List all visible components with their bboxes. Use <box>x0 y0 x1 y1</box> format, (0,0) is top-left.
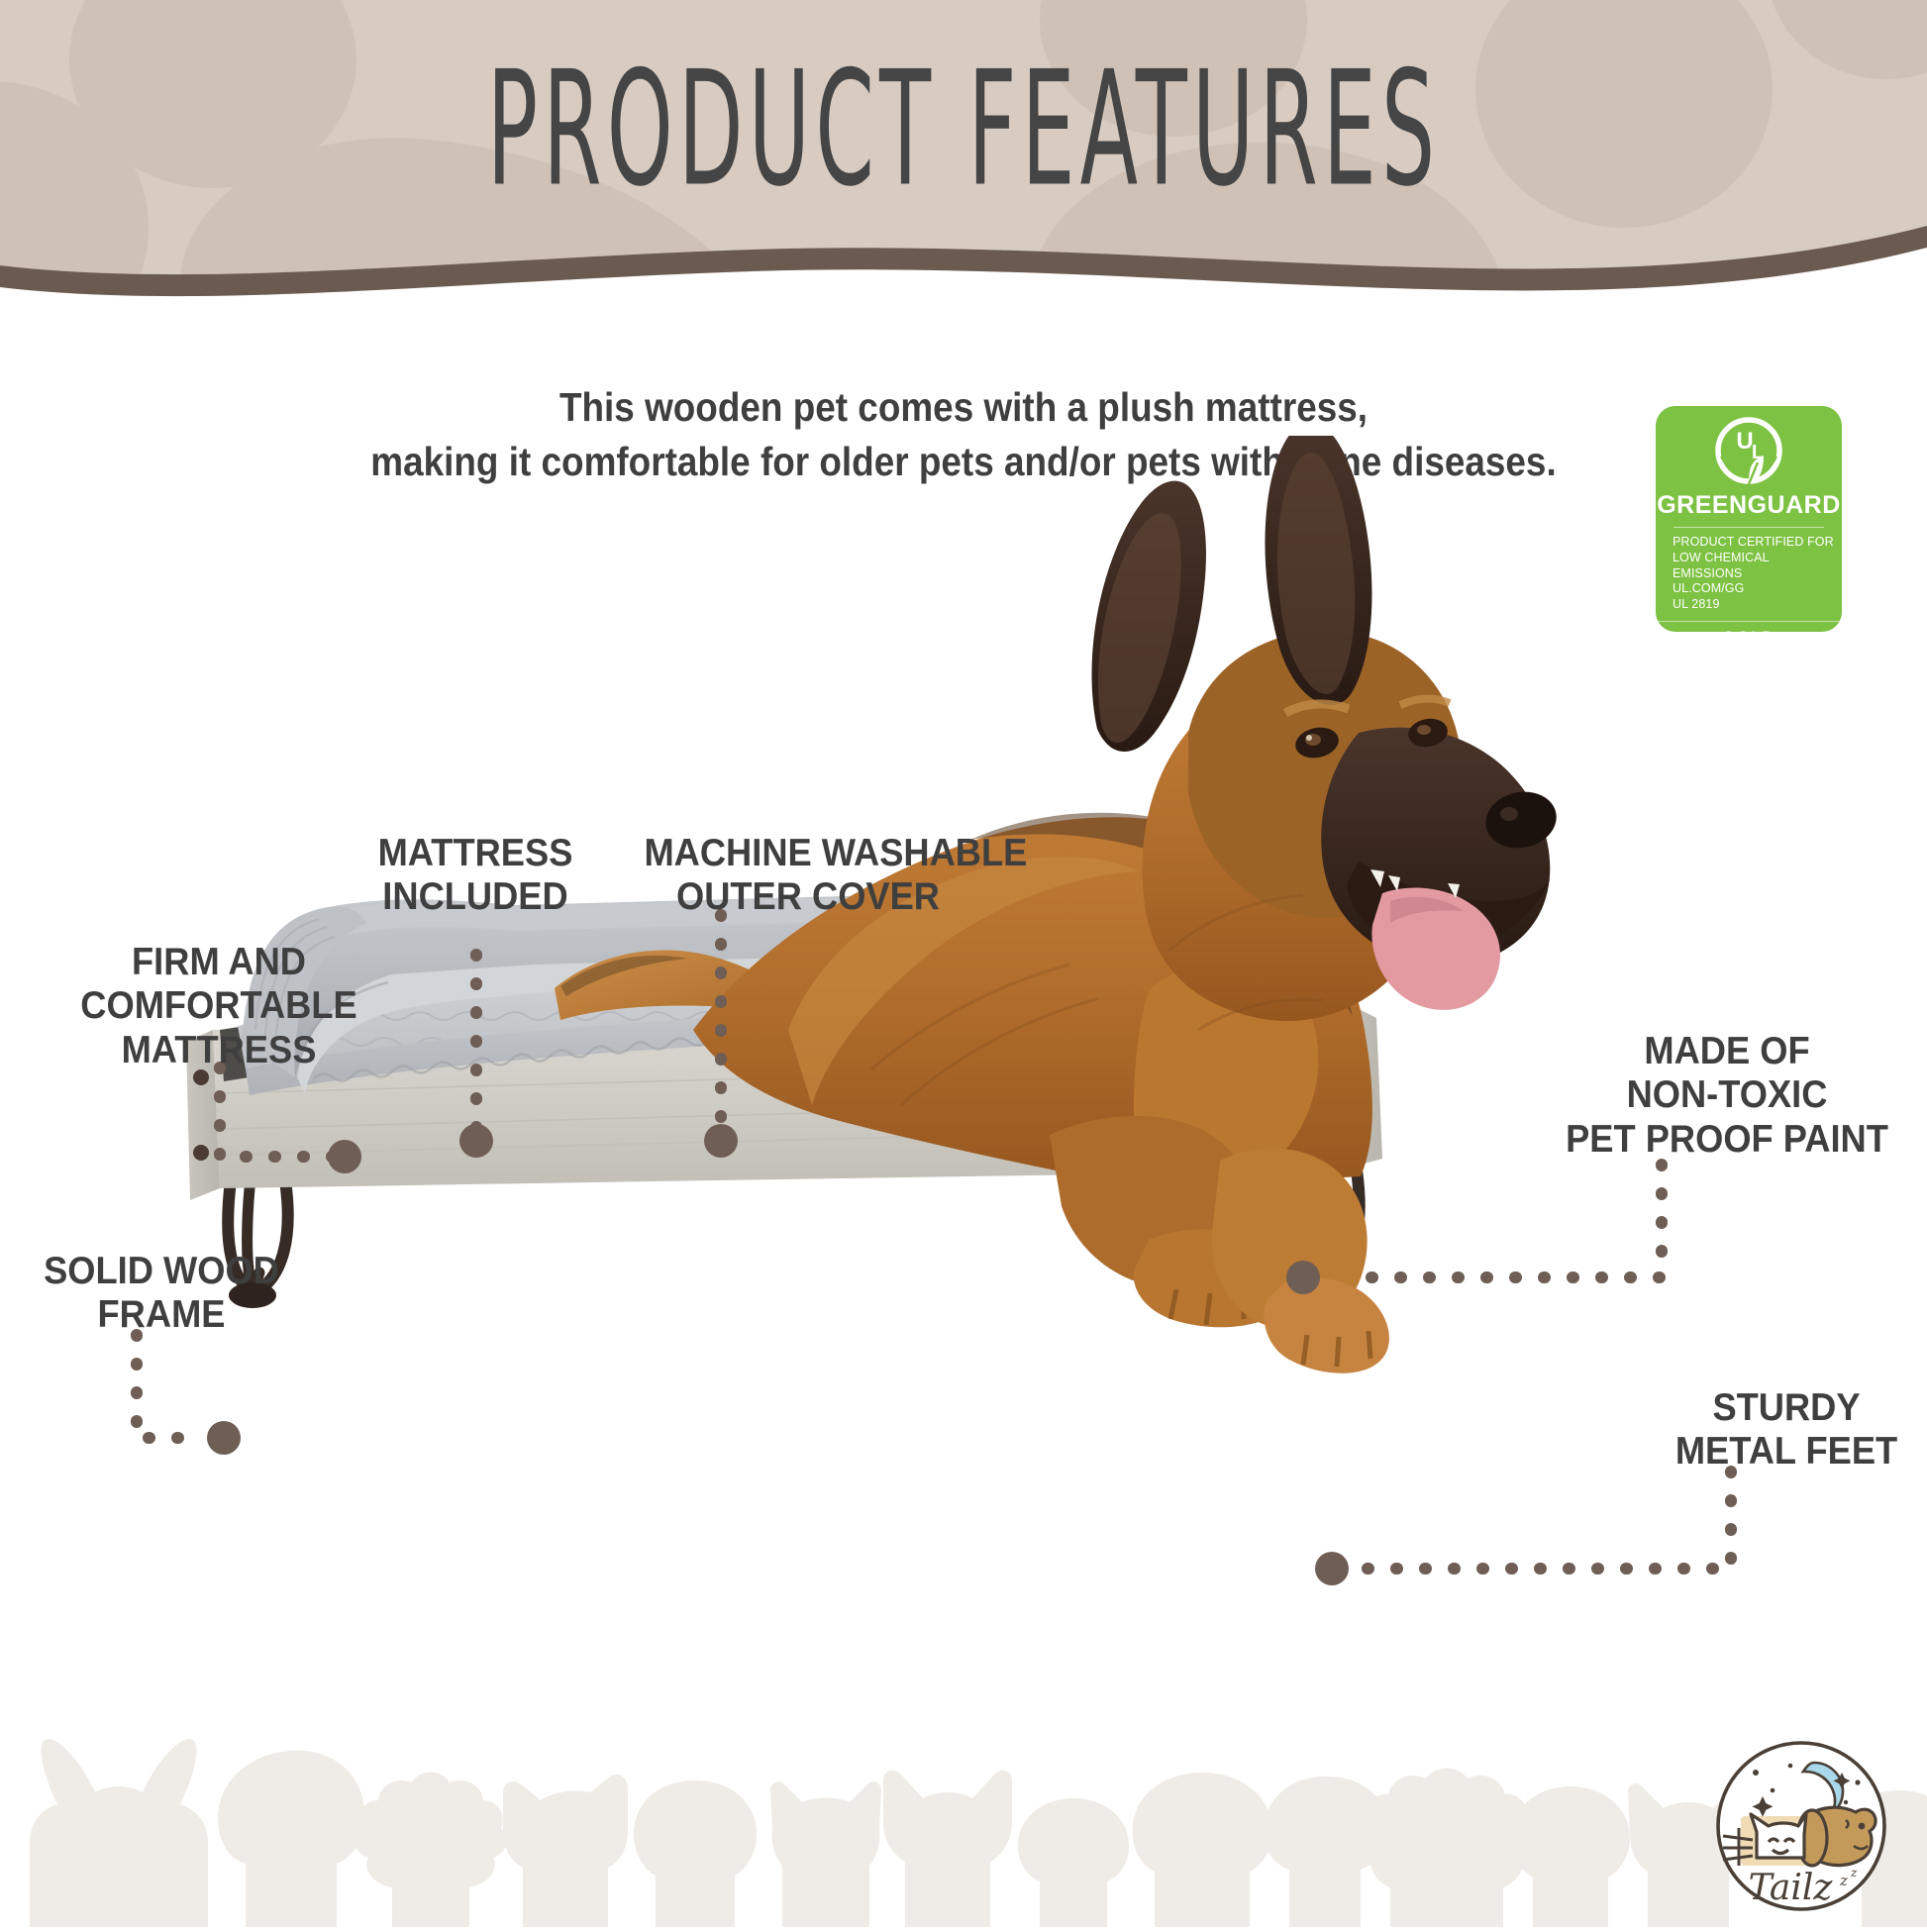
frame-fastener-bottom-left <box>193 1145 209 1161</box>
silhouette-poodle <box>355 1773 506 1928</box>
feature-label-machine-washable: MACHINE WASHABLE OUTER COVER <box>644 832 971 920</box>
firm-mattress-line-3: MATTRESS <box>53 1029 385 1072</box>
brand-zzz: z <box>1839 1872 1848 1889</box>
silhouette-medium-dog <box>1511 1786 1630 1927</box>
tailz-brand-logo: Tailz z z <box>1695 1735 1907 1921</box>
feature-label-firm-mattress: FIRM AND COMFORTABLE MATTRESS <box>53 941 385 1072</box>
dog-logo-icon <box>1797 1807 1876 1866</box>
pet-silhouette-band <box>0 1739 1927 1927</box>
feature-label-solid-wood-frame: SOLID WOOD FRAME <box>33 1250 290 1338</box>
silhouette-shaggy <box>1361 1769 1533 1928</box>
pet-silhouettes <box>0 1739 1927 1927</box>
silhouette-small-dog <box>1018 1798 1129 1927</box>
subtitle-line-1: This wooden pet comes with a plush mattr… <box>96 380 1830 435</box>
silhouette-bulldog <box>1133 1773 1272 1927</box>
non-toxic-line-1: MADE OF <box>1558 1030 1896 1073</box>
silhouette-shepherd <box>883 1771 1012 1927</box>
brand-wordmark: Tailz <box>1749 1868 1834 1908</box>
header-banner: PRODUCT FEATURES <box>0 0 1927 297</box>
solid-wood-line-2: FRAME <box>33 1293 290 1337</box>
feature-label-mattress-included: MATTRESS INCLUDED <box>339 832 611 920</box>
non-toxic-line-2: NON-TOXIC <box>1558 1073 1896 1117</box>
silhouette-retriever <box>218 1751 364 1927</box>
silhouette-longhair-cat <box>770 1781 881 1927</box>
machine-washable-line-1: MACHINE WASHABLE <box>644 832 971 875</box>
silhouette-spaniel <box>1264 1777 1388 1927</box>
mattress-included-line-1: MATTRESS <box>339 832 611 875</box>
firm-mattress-line-1: FIRM AND <box>53 941 385 984</box>
silhouette-frenchie <box>30 1739 208 1927</box>
firm-mattress-line-2: COMFORTABLE <box>53 984 385 1028</box>
infographic-canvas: PRODUCT FEATURES This wooden pet comes w… <box>0 0 1927 1927</box>
solid-wood-line-1: SOLID WOOD <box>33 1250 290 1293</box>
feature-label-sturdy-metal-feet: STURDY METAL FEET <box>1663 1386 1909 1474</box>
feature-label-non-toxic-paint: MADE OF NON-TOXIC PET PROOF PAINT <box>1558 1030 1896 1162</box>
dog-nostril <box>1500 807 1518 821</box>
silhouette-terrier <box>503 1775 628 1927</box>
machine-washable-line-2: OUTER COVER <box>644 875 971 919</box>
metal-feet-line-1: STURDY <box>1663 1386 1909 1430</box>
tailz-logo-mark: Tailz z z <box>1695 1735 1907 1921</box>
metal-feet-line-2: METAL FEET <box>1663 1430 1909 1474</box>
brand-zzz-small: z <box>1850 1866 1858 1880</box>
page-title: PRODUCT FEATURES <box>251 38 1676 222</box>
mattress-included-line-2: INCLUDED <box>339 875 611 919</box>
silhouette-round-dog <box>634 1780 757 1927</box>
dog-paw-right <box>1264 1278 1389 1373</box>
non-toxic-line-3: PET PROOF PAINT <box>1558 1118 1896 1162</box>
